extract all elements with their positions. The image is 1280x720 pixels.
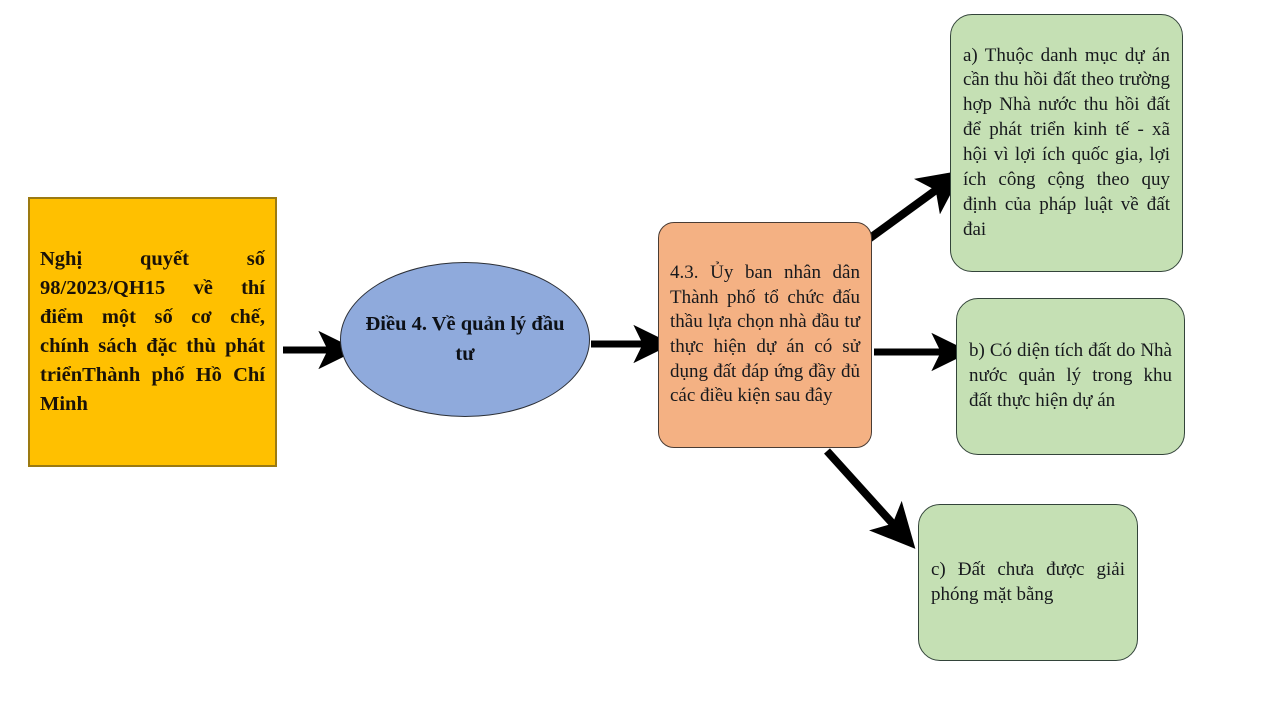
connector-clause-to-condition-c (827, 451, 902, 534)
connector-clause-to-condition-a (866, 182, 947, 241)
node-condition-c: c) Đất chưa được giải phóng mặt bằng (918, 504, 1138, 661)
node-condition-c-label: c) Đất chưa được giải phóng mặt bằng (919, 558, 1137, 608)
node-condition-b-label: b) Có diện tích đất do Nhà nước quản lý … (957, 339, 1184, 414)
diagram-canvas: Nghị quyết số 98/2023/QH15 về thí điểm m… (0, 0, 1280, 720)
node-clause-4-3: 4.3. Ủy ban nhân dân Thành phố tổ chức đ… (658, 222, 872, 448)
node-source-resolution: Nghị quyết số 98/2023/QH15 về thí điểm m… (28, 197, 277, 467)
node-condition-a-label: a) Thuộc danh mục dự án cần thu hồi đất … (951, 44, 1182, 243)
node-clause-label: 4.3. Ủy ban nhân dân Thành phố tổ chức đ… (659, 261, 871, 409)
node-condition-b: b) Có diện tích đất do Nhà nước quản lý … (956, 298, 1185, 455)
node-source-label: Nghị quyết số 98/2023/QH15 về thí điểm m… (30, 245, 275, 420)
node-article-4: Điều 4. Về quản lý đầu tư (340, 262, 590, 417)
node-article-label: Điều 4. Về quản lý đầu tư (341, 310, 589, 369)
node-condition-a: a) Thuộc danh mục dự án cần thu hồi đất … (950, 14, 1183, 272)
